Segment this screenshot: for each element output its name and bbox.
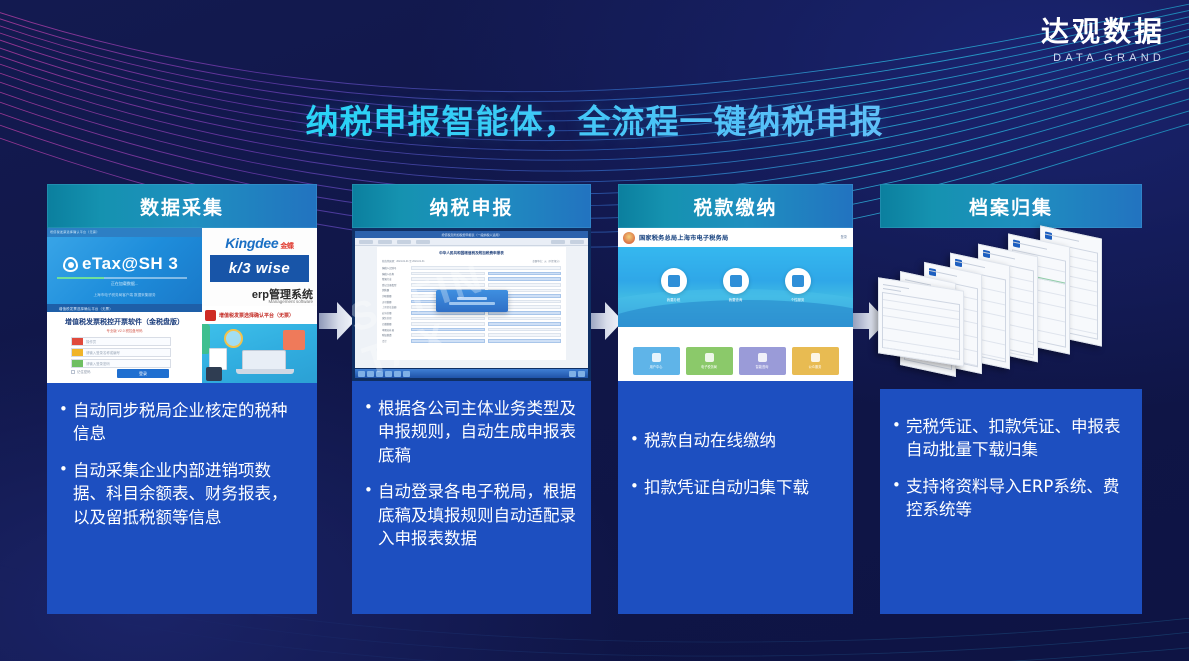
globe-icon xyxy=(811,353,820,362)
form-toolbar xyxy=(355,238,588,246)
flow-step-card-4[interactable]: 档案归集 xyxy=(880,184,1142,614)
kingdee-logo: Kingdee金蝶 xyxy=(202,235,317,251)
tax-emblem-icon xyxy=(623,232,635,244)
quick-link-item[interactable]: 我要查询 xyxy=(721,268,751,302)
service-tile[interactable]: 电子税务局 xyxy=(686,347,733,375)
card-header-title: 纳税申报 xyxy=(352,184,591,228)
etax-splash-screen: 增值税发票选择确认平台（无票） eTax@SH 3 正在加载数据... 上海市电… xyxy=(47,228,202,304)
portal-quick-links: 我要办税 我要查询 个性服务 xyxy=(618,268,853,302)
brand-logo: 达观数据 DATA GRAND xyxy=(1041,18,1165,64)
card-media-declaration-form: 增值税及附加税费申报表（一般纳税人适用） 中华人民共和国增值税及附加税费申报表 … xyxy=(352,228,591,381)
document-sheet xyxy=(878,277,964,367)
form-window: 增值税及附加税费申报表（一般纳税人适用） 中华人民共和国增值税及附加税费申报表 … xyxy=(355,231,588,368)
document-fan xyxy=(880,228,1142,389)
invoice-platform-bar: 增值税发票选择确认平台（无票） xyxy=(202,306,317,324)
bullet-dot-icon: • xyxy=(892,415,906,462)
form-title: 中华人民共和国增值税及附加税费申报表 xyxy=(382,251,561,256)
bullet-text: 自动采集企业内部进销项数据、科目余额表、财务报表，以及留抵税额等信息 xyxy=(73,459,303,529)
grid-icon xyxy=(785,268,811,294)
portal-header: 国家税务总局上海市电子税务局 登录 xyxy=(618,228,853,247)
kingdee-label-cn: 金蝶 xyxy=(280,243,293,250)
login-subtitle: 专业版 V2.0 税控盘号码 xyxy=(47,328,202,333)
process-flow: 数据采集 增值税发票选择确认平台（无票） eTax@SH 3 正在加载数据...… xyxy=(47,184,1142,614)
search-icon xyxy=(758,353,767,362)
etax-loading-subcaption: 上海市电子税务局客户端 数据采集服务 xyxy=(47,293,202,298)
password-field[interactable]: 请输入登录密码 xyxy=(71,359,171,368)
quick-link-item[interactable]: 我要办税 xyxy=(659,268,689,302)
bullet-dot-icon: • xyxy=(892,475,906,522)
kingdee-label: Kingdee xyxy=(225,235,278,251)
form-window-title: 增值税及附加税费申报表（一般纳税人适用） xyxy=(441,233,501,237)
service-tile-label: 智能咨询 xyxy=(756,364,769,369)
operator-select[interactable]: 操作员 xyxy=(71,337,171,346)
finance-illustration xyxy=(202,324,317,383)
bullet-item: • 自动同步税局企业核定的税种信息 xyxy=(59,399,303,446)
calculator-icon xyxy=(206,367,222,381)
portal-service-tiles: 用户中心 电子税务局 智能咨询 公众服务 xyxy=(618,347,853,375)
quick-link-item[interactable]: 个性服务 xyxy=(783,268,813,302)
bullet-text: 支持将资料导入ERP系统、费控系统等 xyxy=(906,475,1128,522)
card-body-bullets: • 税款自动在线缴纳 • 扣款凭证自动归集下载 xyxy=(618,381,853,614)
card-body-bullets: • 自动同步税局企业核定的税种信息 • 自动采集企业内部进销项数据、科目余额表、… xyxy=(47,383,317,614)
bullet-item: • 自动登录各电子税局，根据底稿及填报规则自动适配录入申报表数据 xyxy=(364,480,577,550)
bullet-text: 自动同步税局企业核定的税种信息 xyxy=(73,399,303,446)
bullet-item: • 支持将资料导入ERP系统、费控系统等 xyxy=(892,475,1128,522)
document-icon xyxy=(661,268,687,294)
bullet-item: • 税款自动在线缴纳 xyxy=(630,429,839,452)
form-page: 中华人民共和国增值税及附加税费申报表 税款所属期：2024-01-01 至 20… xyxy=(377,247,566,360)
saving-dialog xyxy=(436,290,508,312)
card-body-bullets: • 根据各公司主体业务类型及申报规则，自动生成申报表底稿 • 自动登录各电子税局… xyxy=(352,381,591,614)
etax-titlebar-text: 增值税发票选择确认平台（无票） xyxy=(47,228,202,234)
magnifier-icon xyxy=(224,329,243,348)
bullet-dot-icon: • xyxy=(630,476,644,499)
bullet-text: 扣款凭证自动归集下载 xyxy=(644,476,839,499)
laptop-icon xyxy=(242,350,286,370)
page-title: 纳税申报智能体，全流程一键纳税申报 xyxy=(0,95,1189,143)
bullet-text: 根据各公司主体业务类型及申报规则，自动生成申报表底稿 xyxy=(378,397,577,467)
bullet-item: • 自动采集企业内部进销项数据、科目余额表、财务报表，以及留抵税额等信息 xyxy=(59,459,303,529)
portal-login-link[interactable]: 登录 xyxy=(841,234,847,239)
quick-link-label: 我要查询 xyxy=(721,297,751,302)
bullet-dot-icon: • xyxy=(630,429,644,452)
loading-progress-bar xyxy=(57,277,187,279)
wallet-icon xyxy=(723,268,749,294)
card-header-title: 数据采集 xyxy=(47,184,317,228)
bullet-item: • 根据各公司主体业务类型及申报规则，自动生成申报表底稿 xyxy=(364,397,577,467)
invoice-platform-icon xyxy=(205,310,216,321)
invoice-software-login: 增值税发票选择确认平台（无票） 增值税发票税控开票软件（金税盘版） 专业版 V2… xyxy=(47,304,202,383)
user-icon xyxy=(652,353,661,362)
form-window-titlebar: 增值税及附加税费申报表（一般纳税人适用） xyxy=(355,231,588,238)
os-taskbar xyxy=(355,369,588,378)
remember-password-checkbox[interactable]: 记住密码 xyxy=(71,369,91,374)
bullet-dot-icon: • xyxy=(59,459,73,529)
bullet-item: • 完税凭证、扣款凭证、申报表自动批量下载归集 xyxy=(892,415,1128,462)
eye-icon xyxy=(63,257,78,272)
card-media-software-collage: 增值税发票选择确认平台（无票） eTax@SH 3 正在加载数据... 上海市电… xyxy=(47,228,317,383)
bullet-dot-icon: • xyxy=(364,397,378,467)
login-title: 增值税发票税控开票软件（金税盘版） xyxy=(47,317,202,327)
service-tile[interactable]: 公众服务 xyxy=(792,347,839,375)
quick-link-label: 我要办税 xyxy=(659,297,689,302)
folder-icon xyxy=(283,330,305,350)
service-tile-label: 公众服务 xyxy=(809,364,822,369)
bullet-dot-icon: • xyxy=(364,480,378,550)
card-header-title: 档案归集 xyxy=(880,184,1142,228)
flow-step-card-3[interactable]: 税款缴纳 国家税务总局上海市电子税务局 登录 我要办税 我要查询 个性服务 用户… xyxy=(618,184,853,614)
flow-step-card-1[interactable]: 数据采集 增值税发票选择确认平台（无票） eTax@SH 3 正在加载数据...… xyxy=(47,184,317,614)
card-header-title: 税款缴纳 xyxy=(618,184,853,228)
etax-product-name: eTax@SH 3 xyxy=(82,254,178,274)
login-button[interactable]: 登录 xyxy=(117,369,169,378)
username-field[interactable]: 请输入登录名称或编号 xyxy=(71,348,171,357)
bullet-text: 自动登录各电子税局，根据底稿及填报规则自动适配录入申报表数据 xyxy=(378,480,577,550)
monitor-icon xyxy=(705,353,714,362)
service-tile-label: 电子税务局 xyxy=(701,364,717,369)
erp-subtitle-en: Management software xyxy=(202,299,313,304)
card-body-bullets: • 完税凭证、扣款凭证、申报表自动批量下载归集 • 支持将资料导入ERP系统、费… xyxy=(880,389,1142,614)
arrow-right-icon xyxy=(319,300,355,342)
login-window-title: 增值税发票选择确认平台（无票） xyxy=(47,306,113,311)
service-tile[interactable]: 智能咨询 xyxy=(739,347,786,375)
service-tile-label: 用户中心 xyxy=(650,364,663,369)
dialog-title xyxy=(457,297,487,300)
card-media-document-stack xyxy=(880,228,1142,389)
bullet-dot-icon: • xyxy=(59,399,73,446)
invoice-platform-label: 增值税发票选择确认平台（无票） xyxy=(219,312,294,319)
bullet-item: • 扣款凭证自动归集下载 xyxy=(630,476,839,499)
quick-link-label: 个性服务 xyxy=(783,297,813,302)
dialog-message xyxy=(449,302,495,305)
bullet-text: 税款自动在线缴纳 xyxy=(644,429,839,452)
etax-loading-caption: 正在加载数据... xyxy=(47,281,202,287)
form-meta: 税款所属期：2024-01-01 至 2024-01-31金额单位：元（列至角分… xyxy=(382,259,561,263)
portal-title: 国家税务总局上海市电子税务局 xyxy=(639,233,728,242)
etax-logo: eTax@SH 3 xyxy=(63,254,178,274)
flow-step-card-2[interactable]: 纳税申报 增值税及附加税费申报表（一般纳税人适用） 中华人民共和国增值税及附加税… xyxy=(352,184,591,614)
service-tile[interactable]: 用户中心 xyxy=(633,347,680,375)
bullet-text: 完税凭证、扣款凭证、申报表自动批量下载归集 xyxy=(906,415,1128,462)
brand-name-cn: 达观数据 xyxy=(1041,18,1165,46)
brand-name-en: DATA GRAND xyxy=(1041,53,1165,64)
k3-wise-product: k/3 wise xyxy=(210,255,309,282)
card-media-tax-portal: 国家税务总局上海市电子税务局 登录 我要办税 我要查询 个性服务 用户中心 电子… xyxy=(618,228,853,381)
